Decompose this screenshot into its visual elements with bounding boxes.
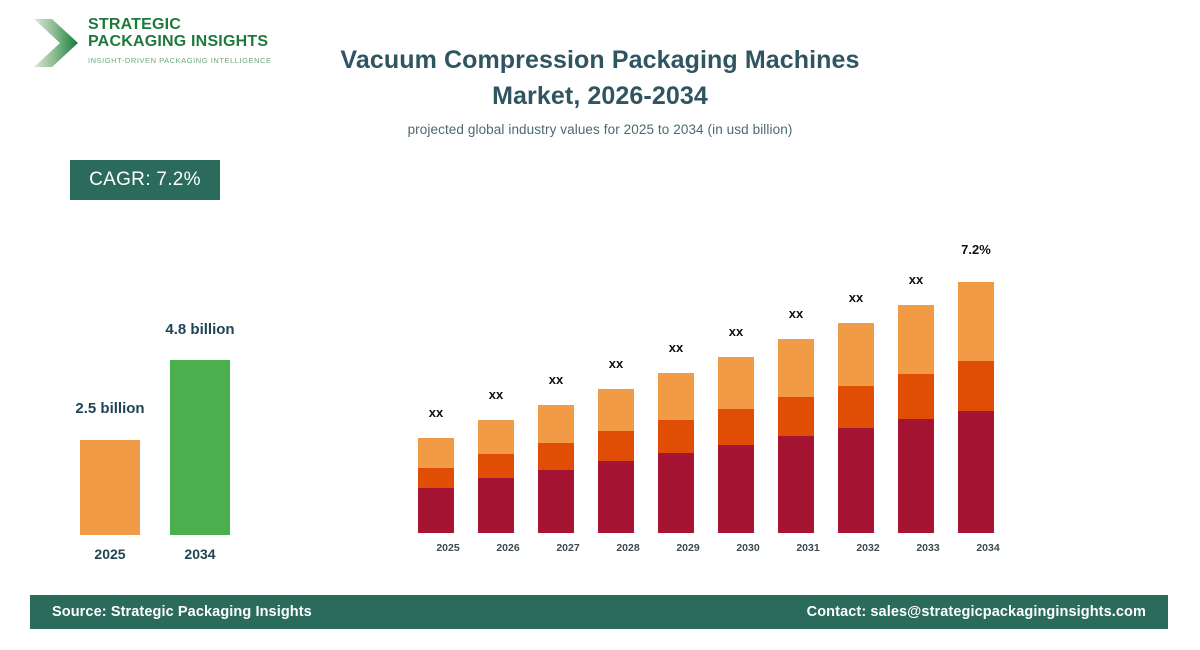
stacked-bar-2029[interactable] (658, 373, 694, 533)
segment-mid-2026 (478, 454, 514, 478)
bar-label-2027: xx (526, 372, 586, 387)
segment-top-2027 (538, 405, 574, 443)
comparison-bar-1 (170, 360, 230, 535)
bar-year-2030: 2030 (718, 542, 778, 554)
bar-year-2027: 2027 (538, 542, 598, 554)
bar-label-2029: xx (646, 340, 706, 355)
segment-bottom-2032 (838, 428, 874, 533)
segment-mid-2031 (778, 397, 814, 436)
bar-label-2034: 7.2% (946, 242, 1006, 257)
footer-contact[interactable]: Contact: sales@strategicpackaginginsight… (807, 604, 1146, 620)
bar-year-2033: 2033 (898, 542, 958, 554)
bar-label-2026: xx (466, 387, 526, 402)
segment-bottom-2030 (718, 445, 754, 533)
segment-bottom-2027 (538, 470, 574, 533)
segment-mid-2027 (538, 443, 574, 470)
segment-top-2025 (418, 438, 454, 468)
cagr-badge: CAGR: 7.2% (70, 160, 220, 200)
segment-mid-2029 (658, 420, 694, 453)
chevron-arrow-icon (30, 16, 82, 70)
page-title: Vacuum Compression Packaging Machines Ma… (300, 42, 900, 137)
segment-mid-2032 (838, 386, 874, 428)
segment-mid-2033 (898, 374, 934, 419)
segment-bottom-2025 (418, 488, 454, 533)
bar-year-2029: 2029 (658, 542, 718, 554)
brand-logo[interactable]: STRATEGIC PACKAGING INSIGHTS INSIGHT-DRI… (30, 14, 255, 76)
segment-top-2030 (718, 357, 754, 409)
footer-source: Source: Strategic Packaging Insights (52, 604, 312, 620)
segment-top-2034 (958, 282, 994, 361)
stacked-bar-2025[interactable] (418, 438, 454, 533)
segment-top-2032 (838, 323, 874, 386)
bar-year-2025: 2025 (418, 542, 478, 554)
brand-name-line1: STRATEGIC (88, 16, 272, 33)
bar-year-2031: 2031 (778, 542, 838, 554)
bar-year-2032: 2032 (838, 542, 898, 554)
footer-bar: Source: Strategic Packaging Insights Con… (30, 595, 1168, 629)
stacked-bar-2028[interactable] (598, 389, 634, 533)
segment-top-2026 (478, 420, 514, 454)
segment-mid-2028 (598, 431, 634, 461)
bar-year-2026: 2026 (478, 542, 538, 554)
comparison-value-1: 4.8 billion (120, 321, 280, 338)
page-subtitle: projected global industry values for 202… (300, 122, 900, 137)
segment-mid-2025 (418, 468, 454, 488)
comparison-bar-fill-1 (170, 360, 230, 535)
stacked-bar-2030[interactable] (718, 357, 754, 533)
infographic-canvas: STRATEGIC PACKAGING INSIGHTS INSIGHT-DRI… (0, 0, 1200, 650)
segment-bottom-2029 (658, 453, 694, 533)
bar-label-2025: xx (406, 405, 466, 420)
segment-bottom-2026 (478, 478, 514, 533)
title-line-1: Vacuum Compression Packaging Machines (300, 42, 900, 78)
comparison-value-0: 2.5 billion (30, 400, 190, 417)
segment-top-2033 (898, 305, 934, 374)
title-line-2: Market, 2026-2034 (300, 78, 900, 114)
bar-label-2031: xx (766, 306, 826, 321)
cagr-badge-label: CAGR: 7.2% (89, 169, 201, 191)
segment-bottom-2034 (958, 411, 994, 533)
segment-bottom-2028 (598, 461, 634, 533)
comparison-year-1: 2034 (140, 546, 260, 562)
stacked-bar-2027[interactable] (538, 405, 574, 533)
bar-year-2034: 2034 (958, 542, 1018, 554)
stacked-bar-2034[interactable] (958, 282, 994, 533)
bar-label-2033: xx (886, 272, 946, 287)
bar-label-2030: xx (706, 324, 766, 339)
stacked-bar-2032[interactable] (838, 323, 874, 533)
segment-top-2031 (778, 339, 814, 397)
segment-bottom-2031 (778, 436, 814, 533)
comparison-bar-0 (80, 440, 140, 535)
segment-top-2029 (658, 373, 694, 420)
forecast-stacked-chart: xx 2025 xx 2026 xx 2027 xx 2028 xx (400, 200, 1020, 560)
bar-label-2032: xx (826, 290, 886, 305)
segment-mid-2034 (958, 361, 994, 411)
bar-year-2028: 2028 (598, 542, 658, 554)
bar-label-2028: xx (586, 356, 646, 371)
brand-name-line2: PACKAGING INSIGHTS (88, 33, 272, 50)
comparison-bar-fill-0 (80, 440, 140, 535)
stacked-bar-2026[interactable] (478, 420, 514, 533)
segment-mid-2030 (718, 409, 754, 445)
segment-top-2028 (598, 389, 634, 431)
comparison-chart: 2.5 billion 2025 4.8 billion 2034 (60, 300, 290, 570)
stacked-bar-2031[interactable] (778, 339, 814, 533)
brand-logo-text: STRATEGIC PACKAGING INSIGHTS INSIGHT-DRI… (88, 16, 272, 65)
brand-tagline: INSIGHT-DRIVEN PACKAGING INTELLIGENCE (88, 56, 272, 65)
stacked-bar-2033[interactable] (898, 305, 934, 533)
segment-bottom-2033 (898, 419, 934, 533)
